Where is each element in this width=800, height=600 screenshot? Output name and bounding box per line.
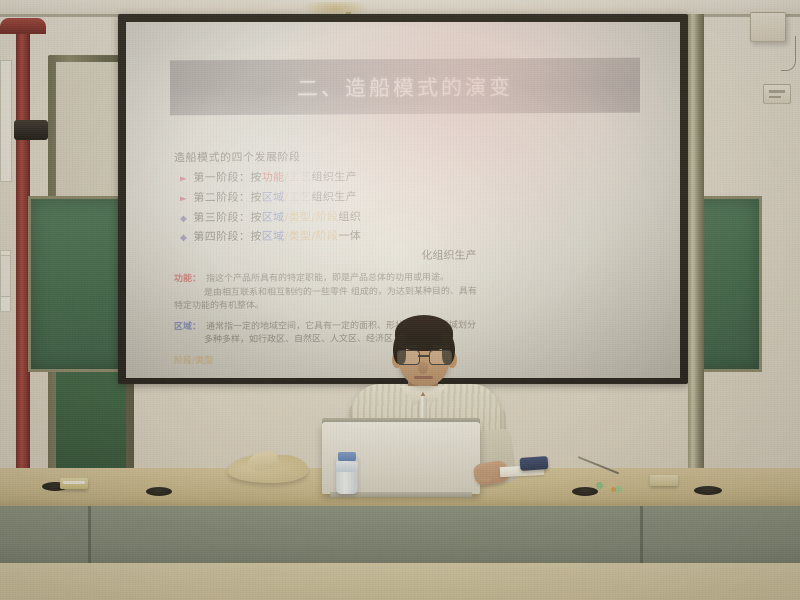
mobile-phone[interactable] [520,456,549,471]
right-eyebrow [432,345,450,348]
right-lens [429,350,452,365]
bottle-label [336,462,358,472]
marker-cap-orange[interactable] [611,487,616,492]
nose [418,362,428,374]
glasses-bridge [418,355,429,357]
mouth [414,376,433,379]
small-box[interactable] [650,475,678,486]
marker-cap-green[interactable] [615,486,622,493]
marker-cap-green[interactable] [596,482,603,489]
classroom-photo: 研发 区块链 二、造船模式的演变 造船模式的四个发展阶段 ► 第一阶段：按功能/… [0,0,800,600]
left-lens [397,350,420,365]
left-eyebrow [400,345,418,348]
seated-person [0,0,800,600]
bottle-cap[interactable] [338,452,356,461]
